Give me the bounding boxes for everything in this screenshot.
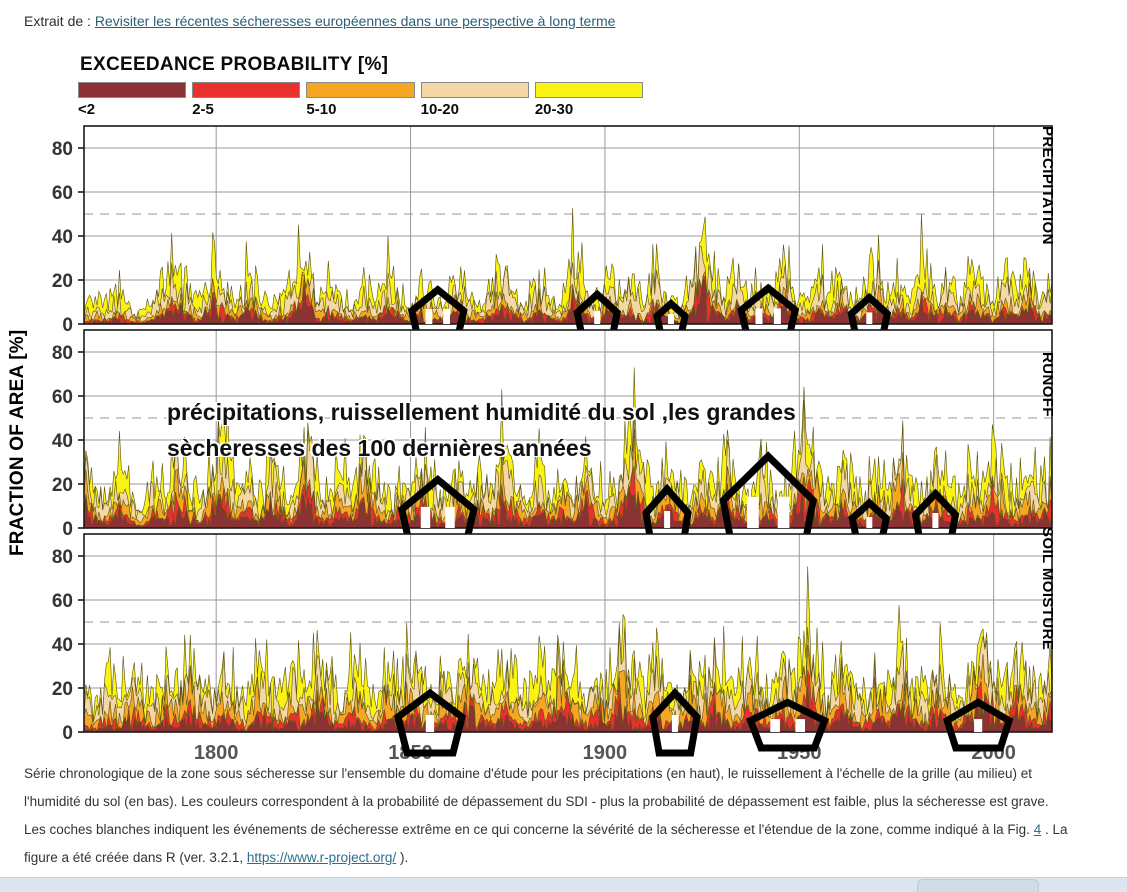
marker-white-tick	[770, 719, 780, 732]
y-tick-label: 40	[52, 635, 73, 656]
marker-white-tick	[668, 314, 674, 324]
y-tick-label: 60	[52, 387, 73, 408]
source-line: Extrait de : Revisiter les récentes séch…	[24, 13, 615, 29]
legend-color-chip	[306, 82, 414, 98]
y-tick-label: 80	[52, 547, 73, 568]
marker-white-tick	[756, 308, 763, 324]
figure-page: Extrait de : Revisiter les récentes séch…	[0, 0, 1127, 892]
legend-color-chip	[192, 82, 300, 98]
drought-timeseries-figure: 0204060800204060800204060801800185019001…	[24, 124, 1084, 760]
legend-color-chip	[78, 82, 186, 98]
marker-white-tick	[664, 511, 670, 528]
marker-white-tick	[421, 507, 430, 528]
legend-item-4: 20-30	[535, 82, 643, 118]
y-tick-label: 0	[62, 315, 73, 336]
exceedance-probability-legend: EXCEEDANCE PROBABILITY [%] <22-55-1010-2…	[78, 54, 643, 118]
y-tick-label: 80	[52, 139, 73, 160]
marker-white-tick	[795, 719, 805, 732]
legend-item-label: 2-5	[192, 101, 300, 118]
bottom-chrome-tab[interactable]	[917, 879, 1039, 892]
y-tick-label: 60	[52, 591, 73, 612]
legend-item-label: 10-20	[421, 101, 529, 118]
panel-runoff: 020406080	[52, 330, 1052, 567]
legend-item-label: <2	[78, 101, 186, 118]
panel-label-runoff: RUNOFF	[1039, 352, 1056, 417]
legend-item-0: <2	[78, 82, 186, 118]
legend-item-2: 5-10	[306, 82, 414, 118]
marker-white-tick	[974, 719, 982, 732]
y-tick-label: 20	[52, 475, 73, 496]
panel-label-soil-moisture: SOIL MOISTURE	[1039, 527, 1056, 650]
y-tick-label: 40	[52, 431, 73, 452]
y-tick-label: 40	[52, 227, 73, 248]
legend-swatch-row: <22-55-1010-2020-30	[78, 82, 643, 118]
legend-color-chip	[535, 82, 643, 98]
marker-white-tick	[426, 715, 434, 732]
y-tick-label: 0	[62, 723, 73, 744]
y-tick-label: 0	[62, 519, 73, 540]
marker-white-tick	[866, 517, 872, 528]
chart-svg: 0204060800204060800204060801800185019001…	[24, 124, 1084, 760]
legend-item-label: 5-10	[306, 101, 414, 118]
source-prefix: Extrait de :	[24, 13, 91, 29]
marker-white-tick	[774, 308, 781, 324]
y-tick-label: 60	[52, 183, 73, 204]
caption-part-3: ).	[396, 850, 408, 865]
r-project-link[interactable]: https://www.r-project.org/	[247, 850, 396, 865]
panel-precipitation: 020406080	[52, 126, 1052, 343]
legend-color-chip	[421, 82, 529, 98]
panel-label-precipitation: PRECIPITATION	[1039, 126, 1056, 245]
marker-white-tick	[932, 513, 938, 528]
legend-item-label: 20-30	[535, 101, 643, 118]
source-article-link[interactable]: Revisiter les récentes sécheresses europ…	[95, 13, 616, 29]
marker-white-tick	[445, 507, 454, 528]
figure-caption: Série chronologique de la zone sous séch…	[24, 760, 1072, 872]
marker-white-tick	[672, 715, 678, 732]
legend-title: EXCEEDANCE PROBABILITY [%]	[80, 54, 643, 76]
panel-soil-moisture: 02040608018001850190019502000	[52, 534, 1052, 760]
legend-item-3: 10-20	[421, 82, 529, 118]
marker-white-tick	[778, 497, 790, 528]
legend-item-1: 2-5	[192, 82, 300, 118]
marker-white-tick	[594, 311, 600, 324]
marker-white-tick	[866, 312, 872, 324]
marker-white-tick	[426, 309, 433, 324]
marker-white-tick	[443, 309, 450, 324]
y-tick-label: 20	[52, 679, 73, 700]
y-tick-label: 80	[52, 343, 73, 364]
caption-part-1: Série chronologique de la zone sous séch…	[24, 766, 1049, 837]
marker-white-tick	[747, 497, 759, 528]
y-tick-label: 20	[52, 271, 73, 292]
x-tick-label: 1900	[583, 742, 628, 760]
x-tick-label: 1800	[194, 742, 239, 760]
